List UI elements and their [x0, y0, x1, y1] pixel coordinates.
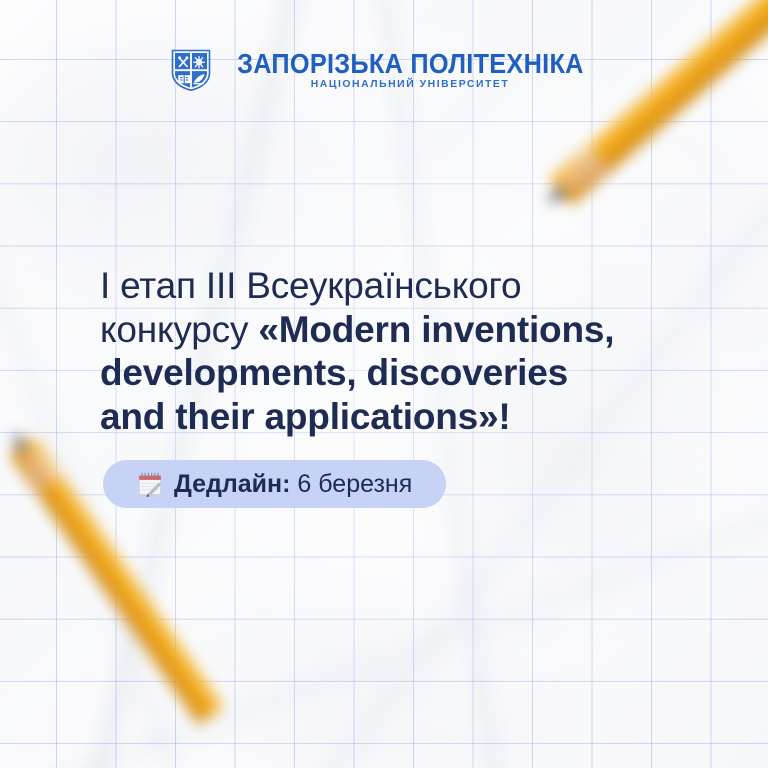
headline-line-1: I етап III Всеукраїнського — [100, 265, 521, 306]
headline-line-3: developments, discoveries — [100, 352, 568, 393]
university-logo: ЗАПОРІЗЬКА ПОЛІТЕХНІКА НАЦІОНАЛЬНИЙ УНІВ… — [0, 48, 768, 92]
university-shield-icon — [170, 48, 212, 92]
deadline-badge: Дедлайн: 6 березня — [103, 460, 446, 508]
deadline-text: Дедлайн: 6 березня — [174, 472, 412, 497]
logo-title: ЗАПОРІЗЬКА ПОЛІТЕХНІКА — [237, 50, 584, 78]
logo-wordmark: ЗАПОРІЗЬКА ПОЛІТЕХНІКА НАЦІОНАЛЬНИЙ УНІВ… — [222, 50, 599, 91]
deadline-label: Дедлайн: — [174, 470, 290, 498]
poster-canvas: ЗАПОРІЗЬКА ПОЛІТЕХНІКА НАЦІОНАЛЬНИЙ УНІВ… — [0, 0, 768, 768]
deadline-value: 6 березня — [290, 470, 412, 498]
logo-subtitle: НАЦІОНАЛЬНИЙ УНІВЕРСИТЕТ — [311, 80, 510, 90]
headline-line-2-bold: «Modern inventions, — [258, 309, 614, 350]
headline-line-2-light: конкурсу — [100, 309, 258, 350]
page-title: I етап III Всеукраїнського конкурсу «Mod… — [100, 264, 720, 438]
headline-line-4: and their applications»! — [100, 396, 511, 437]
spiral-notepad-icon — [137, 471, 163, 497]
